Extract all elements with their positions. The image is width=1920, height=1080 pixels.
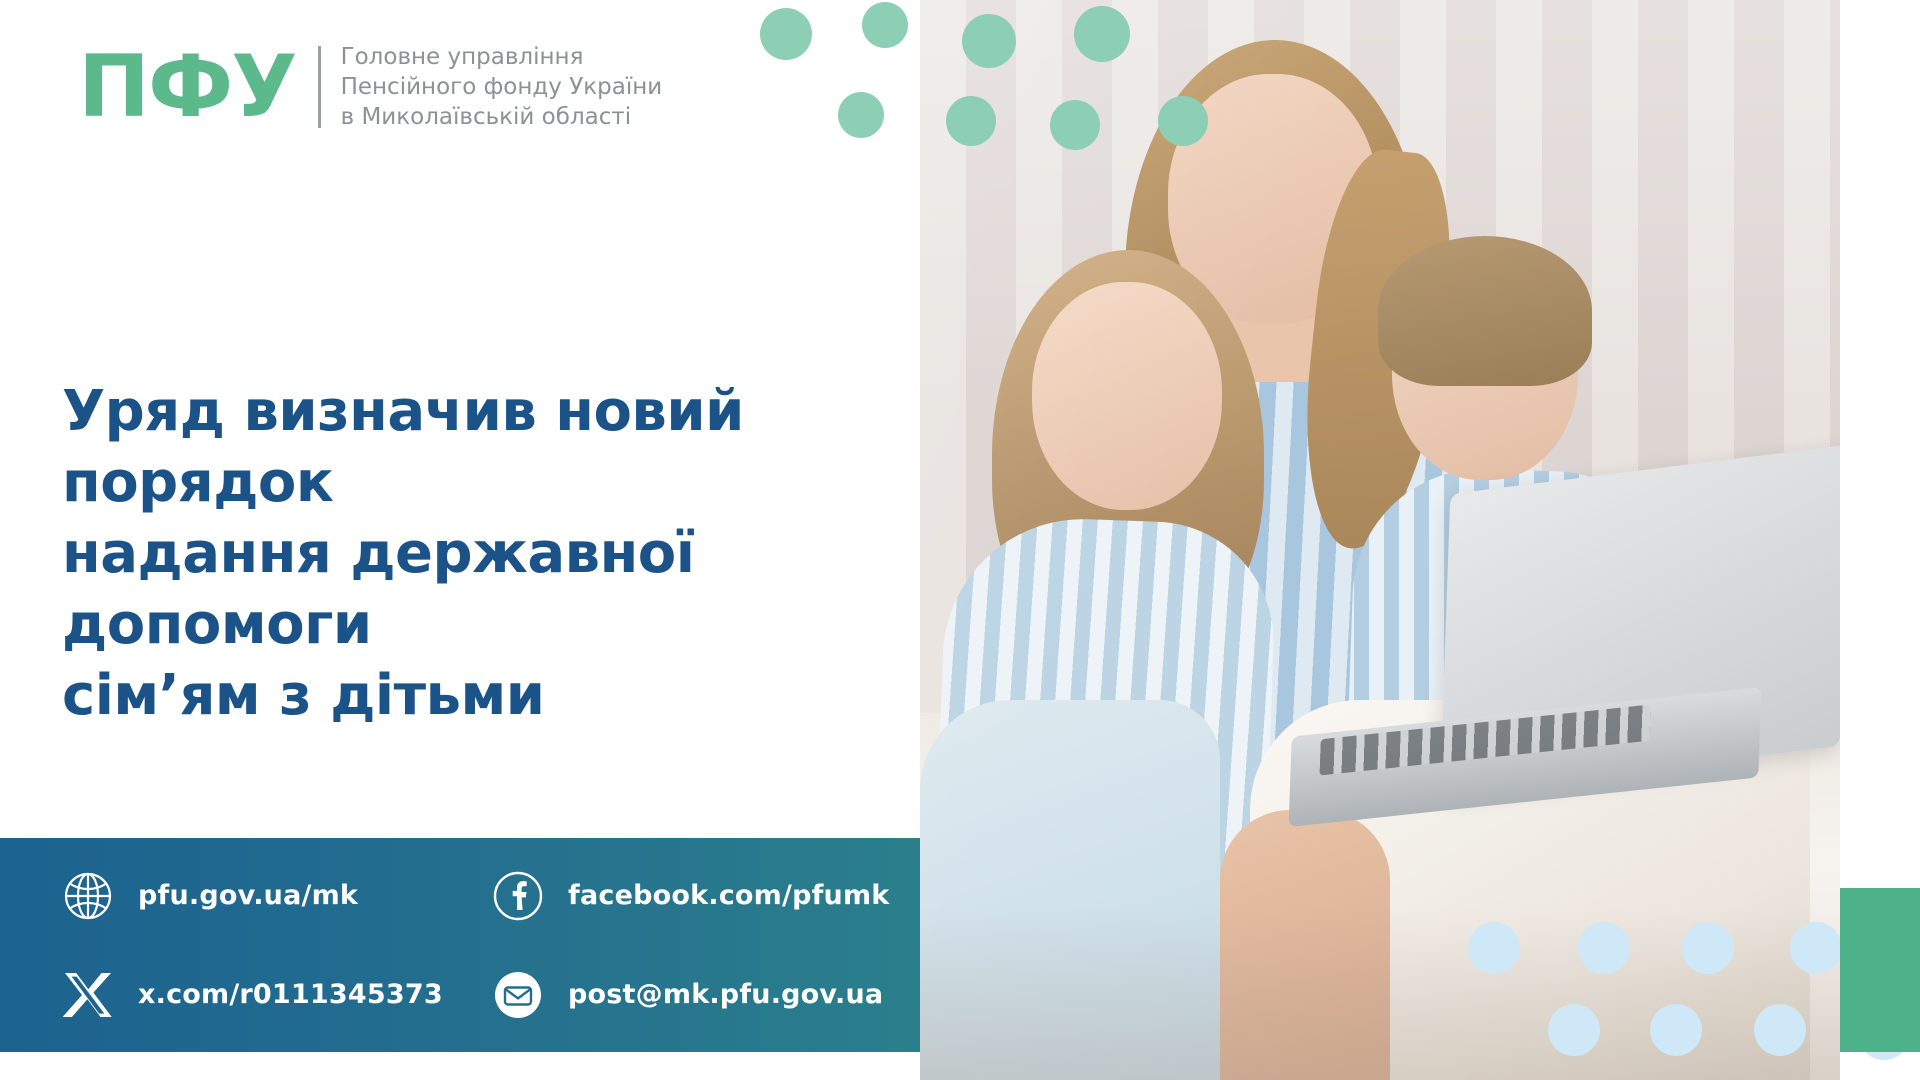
decor-dot xyxy=(1682,922,1734,974)
pfu-logo[interactable]: ПФУ Головне управління Пенсійного фонду … xyxy=(78,42,662,132)
decor-dot xyxy=(1650,1004,1702,1056)
girl-head xyxy=(1032,282,1222,510)
contact-label: facebook.com/pfumk xyxy=(568,880,889,911)
family-photo xyxy=(920,0,1840,1080)
headline-line-2: надання державної допомоги xyxy=(62,518,892,660)
decor-dot xyxy=(946,96,996,146)
decor-dot xyxy=(1050,100,1100,150)
photo-stage xyxy=(920,0,1840,1080)
contact-label: pfu.gov.ua/mk xyxy=(138,880,358,911)
decor-dot xyxy=(1548,1004,1600,1056)
logo-subtitle-line-2: Пенсійного фонду України xyxy=(341,72,663,102)
headline-line-1: Уряд визначив новий порядок xyxy=(62,376,892,518)
contact-item[interactable]: post@mk.pfu.gov.ua xyxy=(492,969,920,1021)
contact-grid: pfu.gov.ua/mkfacebook.com/pfumkx.com/r01… xyxy=(0,838,920,1052)
logo-divider xyxy=(318,46,321,128)
facebook-icon xyxy=(492,870,544,922)
decor-dot xyxy=(1468,922,1520,974)
logo-subtitle-line-3: в Миколаївській області xyxy=(341,102,663,132)
decor-dot xyxy=(862,2,908,48)
boy-hair xyxy=(1378,236,1592,386)
decor-dot xyxy=(1790,922,1842,974)
headline-line-3: сім’ям з дітьми xyxy=(62,660,892,731)
contact-item[interactable]: pfu.gov.ua/mk xyxy=(62,870,492,922)
globe-icon xyxy=(62,870,114,922)
x-twitter-icon xyxy=(62,969,114,1021)
headline: Уряд визначив новий порядок надання держ… xyxy=(62,376,892,731)
logo-subtitle: Головне управління Пенсійного фонду Укра… xyxy=(341,42,663,132)
contact-item[interactable]: facebook.com/pfumk xyxy=(492,870,920,922)
decor-dot xyxy=(838,92,884,138)
contact-footer: pfu.gov.ua/mkfacebook.com/pfumkx.com/r01… xyxy=(0,838,920,1052)
decor-dot xyxy=(1074,6,1130,62)
decor-dot xyxy=(1158,96,1208,146)
contact-item[interactable]: x.com/r0111345373 xyxy=(62,969,492,1021)
logo-subtitle-line-1: Головне управління xyxy=(341,42,663,72)
pfu-logo-mark: ПФУ xyxy=(78,44,318,130)
decor-dot xyxy=(962,14,1016,68)
poster-canvas: ПФУ Головне управління Пенсійного фонду … xyxy=(0,0,1920,1080)
decor-dot xyxy=(1754,1004,1806,1056)
accent-block-right xyxy=(1840,888,1920,1052)
envelope-icon xyxy=(492,969,544,1021)
decor-dot xyxy=(1578,922,1630,974)
decor-dot xyxy=(760,8,812,60)
contact-label: post@mk.pfu.gov.ua xyxy=(568,979,883,1010)
contact-label: x.com/r0111345373 xyxy=(138,979,443,1010)
